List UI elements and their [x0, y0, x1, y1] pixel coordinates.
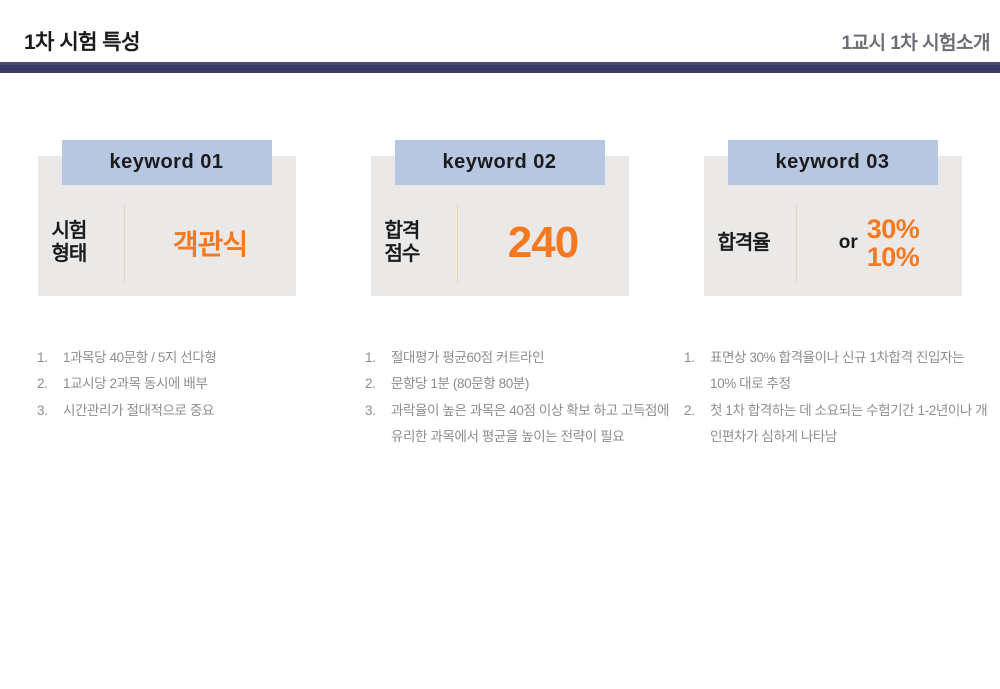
keyword-card-1-badge: keyword 01 — [62, 140, 272, 185]
keyword-card-1-body: 시험 형태 객관식 — [38, 190, 296, 296]
keyword-card-2-value-number: 240 — [508, 221, 578, 265]
keyword-card-1-label-line-1: 시험 — [52, 220, 124, 243]
list-item: 3. 시간관리가 절대적으로 중요 — [37, 398, 337, 424]
keyword-card-1-label-line-2: 형태 — [52, 243, 124, 266]
list-item-number: 1. — [37, 345, 63, 371]
keyword-card-2-body: 합격 점수 240 — [371, 190, 629, 296]
list-item-number: 3. — [37, 398, 63, 424]
list-item-text: 1과목당 40문항 / 5지 선다형 — [63, 345, 337, 371]
list-item-number: 1. — [365, 345, 391, 371]
list-item-text: 과락율이 높은 과목은 40점 이상 확보 하고 고득점에 유리한 과목에서 평… — [391, 398, 675, 451]
keyword-column-3-list: 1. 표면상 30% 합격율이나 신규 1차합격 진입자는 10% 대로 추정 … — [684, 345, 989, 450]
keyword-column-3: keyword 03 합격율 or 30% 10% 1. 표면상 30 — [666, 140, 999, 296]
list-item-number: 3. — [365, 398, 391, 451]
slide-header: 1차 시험 특성 1교시 1차 시험소개 — [0, 0, 1000, 62]
keyword-card-3-value: or 30% 10% — [797, 215, 962, 272]
keyword-card-1-label: 시험 형태 — [38, 220, 124, 266]
list-item-number: 2. — [365, 371, 391, 397]
keyword-card-3-label-line-1: 합격율 — [718, 232, 796, 255]
keyword-column-2: keyword 02 합격 점수 240 1. 절대평가 평균60점 커트라인 … — [333, 140, 666, 296]
keyword-card-1-value-text: 객관식 — [173, 223, 247, 263]
keyword-card-3-value-top: 30% — [867, 215, 920, 243]
list-item-number: 1. — [684, 345, 710, 398]
keyword-card-3-value-bottom: 10% — [867, 243, 920, 271]
keyword-card-2-label-line-1: 합격 — [385, 220, 457, 243]
list-item: 1. 표면상 30% 합격율이나 신규 1차합격 진입자는 10% 대로 추정 — [684, 345, 989, 398]
keyword-card-3-badge-label: keyword 03 — [776, 151, 890, 174]
list-item: 2. 문항당 1분 (80문항 80분) — [365, 371, 675, 397]
list-item-number: 2. — [684, 398, 710, 451]
header-subtitle: 1교시 1차 시험소개 — [841, 28, 990, 55]
keyword-card-2: keyword 02 합격 점수 240 — [371, 156, 629, 296]
keyword-card-2-badge-label: keyword 02 — [443, 151, 557, 174]
keyword-card-3-or-label: or — [839, 232, 858, 254]
list-item-text: 표면상 30% 합격율이나 신규 1차합격 진입자는 10% 대로 추정 — [710, 345, 989, 398]
list-item: 2. 첫 1차 합격하는 데 소요되는 수험기간 1-2년이나 개인편차가 심하… — [684, 398, 989, 451]
list-item-text: 문항당 1분 (80문항 80분) — [391, 371, 675, 397]
header-divider-highlight — [0, 62, 1000, 65]
keyword-card-3: keyword 03 합격율 or 30% 10% — [704, 156, 962, 296]
keyword-card-3-badge: keyword 03 — [728, 140, 938, 185]
list-item: 1. 1과목당 40문항 / 5지 선다형 — [37, 345, 337, 371]
keyword-card-1-badge-label: keyword 01 — [110, 151, 224, 174]
keyword-card-1-value: 객관식 — [125, 223, 296, 263]
keyword-columns: keyword 01 시험 형태 객관식 1. 1과목당 40문항 / 5지 선… — [0, 140, 1000, 296]
list-item: 3. 과락율이 높은 과목은 40점 이상 확보 하고 고득점에 유리한 과목에… — [365, 398, 675, 451]
keyword-column-2-list: 1. 절대평가 평균60점 커트라인 2. 문항당 1분 (80문항 80분) … — [365, 345, 675, 450]
keyword-column-1-list: 1. 1과목당 40문항 / 5지 선다형 2. 1교시당 2과목 동시에 배부… — [37, 345, 337, 424]
keyword-card-1: keyword 01 시험 형태 객관식 — [38, 156, 296, 296]
keyword-card-2-label-line-2: 점수 — [385, 243, 457, 266]
list-item-text: 첫 1차 합격하는 데 소요되는 수험기간 1-2년이나 개인편차가 심하게 나… — [710, 398, 989, 451]
keyword-card-3-body: 합격율 or 30% 10% — [704, 190, 962, 296]
list-item-text: 시간관리가 절대적으로 중요 — [63, 398, 337, 424]
list-item-text: 1교시당 2과목 동시에 배부 — [63, 371, 337, 397]
list-item-number: 2. — [37, 371, 63, 397]
list-item: 2. 1교시당 2과목 동시에 배부 — [37, 371, 337, 397]
page-title: 1차 시험 특성 — [24, 26, 140, 56]
keyword-column-1: keyword 01 시험 형태 객관식 1. 1과목당 40문항 / 5지 선… — [0, 140, 333, 296]
keyword-card-2-badge: keyword 02 — [395, 140, 605, 185]
keyword-card-2-value: 240 — [458, 221, 629, 265]
keyword-card-3-label: 합격율 — [704, 232, 796, 255]
keyword-card-2-label: 합격 점수 — [371, 220, 457, 266]
list-item-text: 절대평가 평균60점 커트라인 — [391, 345, 675, 371]
header-divider-bar — [0, 62, 1000, 73]
list-item: 1. 절대평가 평균60점 커트라인 — [365, 345, 675, 371]
keyword-card-3-value-stack: 30% 10% — [867, 215, 920, 272]
